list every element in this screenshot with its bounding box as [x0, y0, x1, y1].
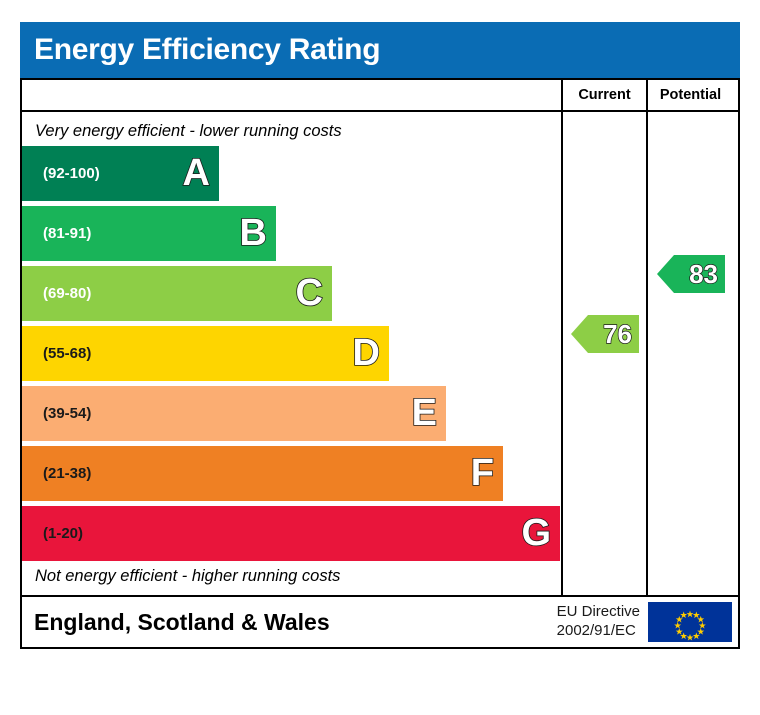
- chart-title-bar: Energy Efficiency Rating: [20, 22, 740, 78]
- band-row-a: (92-100) A: [22, 146, 219, 201]
- band-letter-e: E: [412, 394, 437, 432]
- directive-line-2: 2002/91/EC: [557, 622, 640, 641]
- band-letter-g: G: [521, 514, 551, 552]
- band-range-a: (92-100): [22, 165, 100, 182]
- band-range-b: (81-91): [22, 225, 91, 242]
- caption-top: Very energy efficient - lower running co…: [22, 116, 561, 146]
- band-letter-a: A: [183, 154, 210, 192]
- current-rating-column: 76: [563, 112, 648, 595]
- header-spacer: [22, 80, 563, 110]
- rating-body: Very energy efficient - lower running co…: [22, 112, 738, 595]
- band-range-f: (21-38): [22, 465, 91, 482]
- band-row-d: (55-68) D: [22, 326, 389, 381]
- potential-rating-column: 83: [648, 112, 733, 595]
- band-range-e: (39-54): [22, 405, 91, 422]
- band-row-g: (1-20) G: [22, 506, 560, 561]
- band-row-c: (69-80) C: [22, 266, 332, 321]
- band-letter-d: D: [353, 334, 380, 372]
- column-header-row: Current Potential: [22, 80, 738, 112]
- directive-line-1: EU Directive: [557, 603, 640, 622]
- caption-bottom: Not energy efficient - higher running co…: [22, 561, 561, 591]
- column-header-potential: Potential: [648, 80, 733, 110]
- chart-footer: England, Scotland & Wales EU Directive 2…: [20, 597, 740, 649]
- page-title: Energy Efficiency Rating: [34, 33, 380, 67]
- band-row-b: (81-91) B: [22, 206, 276, 261]
- band-letter-b: B: [240, 214, 267, 252]
- band-letter-f: F: [471, 454, 494, 492]
- band-range-g: (1-20): [22, 525, 83, 542]
- band-list: (92-100) A (81-91) B (69-80) C (55-68) D: [22, 146, 561, 561]
- current-rating-arrow: 76: [571, 315, 639, 353]
- band-row-e: (39-54) E: [22, 386, 446, 441]
- epc-chart: Energy Efficiency Rating Current Potenti…: [20, 22, 740, 649]
- current-rating-value: 76: [603, 321, 632, 347]
- footer-directive: EU Directive 2002/91/EC: [557, 597, 648, 647]
- eu-flag-icon: [648, 602, 732, 642]
- rating-grid: Current Potential Very energy efficient …: [20, 78, 740, 597]
- potential-rating-value: 83: [689, 261, 718, 287]
- column-header-current: Current: [563, 80, 648, 110]
- band-letter-c: C: [296, 274, 323, 312]
- footer-region-label: England, Scotland & Wales: [22, 597, 557, 647]
- band-row-f: (21-38) F: [22, 446, 503, 501]
- band-range-d: (55-68): [22, 345, 91, 362]
- bands-column: Very energy efficient - lower running co…: [22, 112, 563, 595]
- band-range-c: (69-80): [22, 285, 91, 302]
- potential-rating-arrow: 83: [657, 255, 725, 293]
